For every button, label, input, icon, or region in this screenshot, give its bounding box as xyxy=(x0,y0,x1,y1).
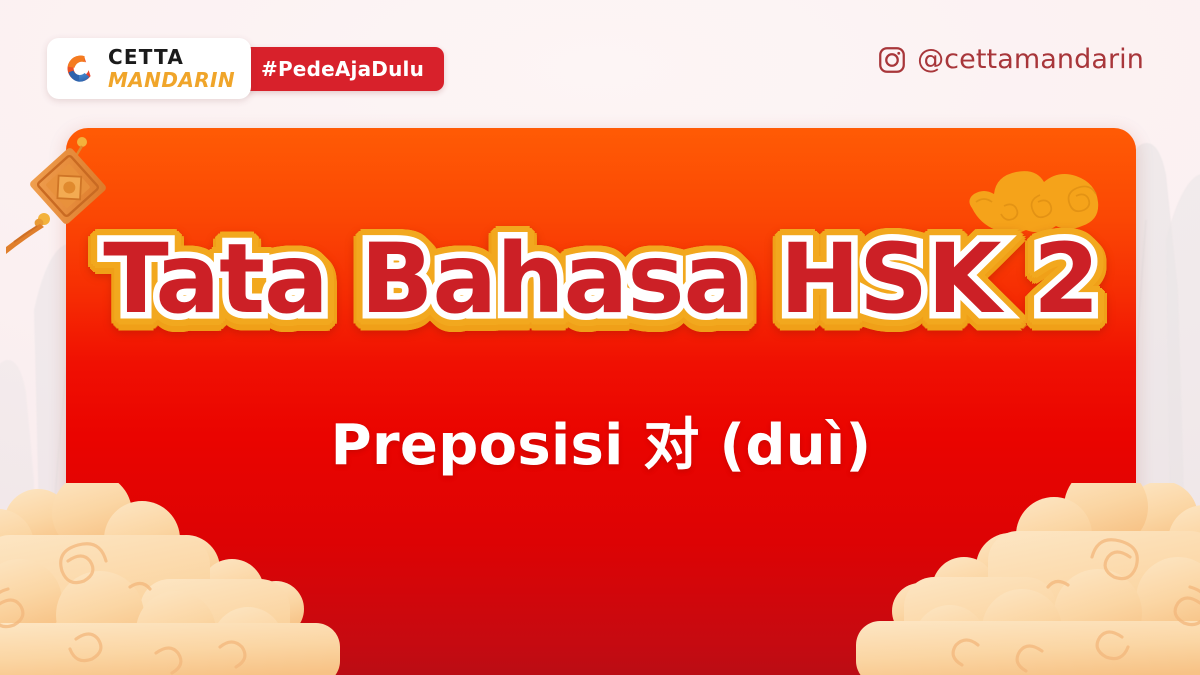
auspicious-cloud-left-icon xyxy=(0,483,410,675)
cetta-c-logo-icon xyxy=(59,49,99,89)
page-subtitle: Preposisi 对 (duì) xyxy=(66,400,1136,481)
logo-pill[interactable]: CETTA MANDARIN xyxy=(47,38,251,99)
logo-wordmark: CETTA MANDARIN xyxy=(108,47,235,90)
social-handle[interactable]: @cettamandarin xyxy=(877,44,1144,75)
page-header: CETTA MANDARIN #PedeAjaDulu @cettamandar… xyxy=(0,0,1200,128)
logo-word-mandarin: MANDARIN xyxy=(108,70,235,90)
brand-lockup: CETTA MANDARIN #PedeAjaDulu xyxy=(47,38,444,99)
instagram-icon xyxy=(877,45,907,75)
hashtag-badge[interactable]: #PedeAjaDulu xyxy=(227,47,444,91)
auspicious-cloud-right-icon xyxy=(790,483,1200,675)
chinese-hanging-charm-icon xyxy=(6,126,126,256)
logo-word-cetta: CETTA xyxy=(108,47,235,67)
auspicious-cloud-swirl-icon xyxy=(964,150,1114,245)
social-handle-text: @cettamandarin xyxy=(917,44,1144,75)
